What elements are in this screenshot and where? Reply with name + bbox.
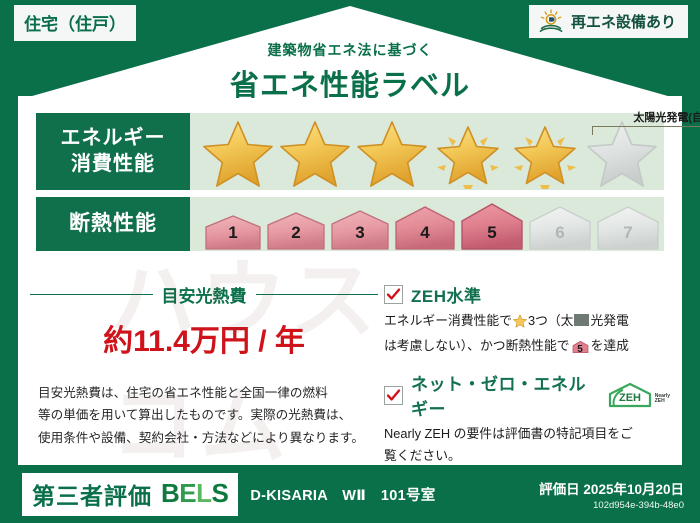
page-title: 省エネ性能ラベル bbox=[0, 62, 700, 104]
property-name: D-KISARIA WⅡ 101号室 bbox=[250, 484, 435, 505]
utility-cost-note-line3: 使用条件や設備、契約会社・方法などにより異なります。 bbox=[38, 427, 378, 449]
utility-cost-note: 目安光熱費は、住宅の省エネ性能と全国一律の燃料 等の単価を用いて算出したものです… bbox=[30, 382, 378, 449]
title-rule-left bbox=[30, 294, 153, 296]
utility-cost-title: 目安光熱費 bbox=[162, 282, 247, 307]
zeh-standard-body-part1: エネルギー消費性能で bbox=[384, 313, 512, 328]
zeh-standard-body-part5: を達成 bbox=[591, 338, 629, 353]
utility-cost-note-line1: 目安光熱費は、住宅の省エネ性能と全国一律の燃料 bbox=[38, 382, 378, 404]
renewable-energy-badge: 再エネ設備あり bbox=[529, 5, 688, 38]
bels-logo: BELS bbox=[161, 478, 228, 509]
net-zero-body-line2: 覧ください。 bbox=[384, 445, 670, 467]
footer: 第三者評価 BELS D-KISARIA WⅡ 101号室 評価日 2025年1… bbox=[0, 465, 700, 523]
zeh-standard-body-part3: 光発電 bbox=[590, 313, 628, 328]
header-subtitle: 建築物省エネ法に基づく bbox=[0, 40, 700, 60]
energy-label-root: ハウスコム 住宅（住戸） 再エネ設備あり 建築物省エネ法に基づく bbox=[0, 0, 700, 523]
net-zero-energy-item: ネット・ゼロ・エネルギー ZEH Nearly ZEH bbox=[384, 370, 670, 467]
net-zero-checkbox[interactable] bbox=[384, 386, 403, 405]
zeh-standard-body-part2: 3つ（太 bbox=[528, 313, 574, 328]
inline-house-level-number: 5 bbox=[572, 341, 589, 358]
rating-rows: エネルギー 消費性能 太陽光発電(自家消費)分 bbox=[36, 113, 664, 258]
house-level-scale: 1 2 3 bbox=[202, 197, 658, 251]
star-1-filled bbox=[200, 117, 277, 189]
category-chip: 住宅（住戸） bbox=[14, 5, 136, 41]
house-level-1: 1 bbox=[202, 197, 264, 251]
detail-columns: 目安光熱費 約11.4万円 / 年 目安光熱費は、住宅の省エネ性能と全国一律の燃… bbox=[30, 282, 670, 476]
star-5-filled-solar bbox=[507, 117, 584, 189]
solar-annotation-label: 太陽光発電(自家消費)分 bbox=[592, 109, 700, 125]
house-level-3: 3 bbox=[328, 197, 392, 251]
utility-cost-note-line2: 等の単価を用いて算出したものです。実際の光熱費は、 bbox=[38, 404, 378, 426]
title-rule-right bbox=[256, 294, 379, 296]
solar-sun-icon bbox=[538, 9, 564, 33]
star-2-filled bbox=[277, 117, 354, 189]
zeh-standard-checkbox[interactable] bbox=[384, 285, 403, 304]
zeh-house-logo-icon: ZEH bbox=[607, 382, 653, 408]
house-level-7: 7 bbox=[594, 197, 662, 251]
house-level-2: 2 bbox=[264, 197, 328, 251]
net-zero-body: Nearly ZEH の要件は評価書の特記項目をご 覧ください。 bbox=[384, 423, 670, 467]
zeh-standard-head: ZEH水準 bbox=[384, 282, 670, 307]
star-rating bbox=[200, 113, 660, 189]
zeh-standard-item: ZEH水準 エネルギー消費性能で3つ（太光発電 は考慮しない）、かつ断熱性能で5… bbox=[384, 282, 670, 361]
solar-annotation: 太陽光発電(自家消費)分 bbox=[592, 109, 700, 135]
utility-cost-column: 目安光熱費 約11.4万円 / 年 目安光熱費は、住宅の省エネ性能と全国一律の燃… bbox=[30, 282, 378, 476]
insulation-performance-row: 断熱性能 1 bbox=[36, 197, 664, 251]
zeh-standard-body: エネルギー消費性能で3つ（太光発電 は考慮しない）、かつ断熱性能で5を達成 bbox=[384, 310, 670, 361]
energy-performance-value: 太陽光発電(自家消費)分 bbox=[190, 113, 664, 190]
utility-cost-title-row: 目安光熱費 bbox=[30, 282, 378, 307]
third-party-label: 第三者評価 bbox=[32, 477, 152, 511]
solar-bracket bbox=[592, 126, 700, 135]
evaluation-id: 102d954e-394b-48e0 bbox=[539, 500, 684, 511]
star-4-filled-solar bbox=[430, 117, 507, 189]
house-level-5-achieved: 5 bbox=[458, 197, 526, 251]
redacted-character bbox=[574, 314, 589, 326]
zeh-logo-sub-line2: ZEH bbox=[655, 398, 665, 404]
svg-text:ZEH: ZEH bbox=[619, 392, 641, 404]
energy-caption-line1: エネルギー bbox=[61, 126, 166, 152]
energy-performance-row: エネルギー 消費性能 太陽光発電(自家消費)分 bbox=[36, 113, 664, 190]
utility-cost-value: 約11.4万円 / 年 bbox=[30, 316, 378, 360]
zeh-standard-title: ZEH水準 bbox=[411, 282, 482, 307]
renewable-badge-label: 再エネ設備あり bbox=[571, 11, 676, 32]
house-level-4: 4 bbox=[392, 197, 458, 251]
house-level-6: 6 bbox=[526, 197, 594, 251]
net-zero-head: ネット・ゼロ・エネルギー ZEH Nearly ZEH bbox=[384, 370, 670, 420]
net-zero-title: ネット・ゼロ・エネルギー bbox=[411, 370, 595, 420]
zeh-logo: ZEH Nearly ZEH bbox=[603, 382, 670, 408]
net-zero-body-line1: Nearly ZEH の要件は評価書の特記項目をご bbox=[384, 423, 670, 445]
zeh-logo-sub: Nearly ZEH bbox=[655, 394, 670, 405]
inline-house-level-icon: 5 bbox=[572, 339, 589, 361]
inline-star-icon bbox=[513, 316, 527, 331]
star-3-filled bbox=[353, 117, 430, 189]
page-title-block: 建築物省エネ法に基づく 省エネ性能ラベル bbox=[0, 40, 700, 104]
evaluation-date: 評価日 2025年10月20日 bbox=[539, 478, 684, 498]
footer-right: 評価日 2025年10月20日 102d954e-394b-48e0 bbox=[539, 478, 684, 511]
bels-chip: 第三者評価 BELS bbox=[22, 473, 238, 516]
insulation-caption: 断熱性能 bbox=[36, 197, 190, 251]
zeh-standard-body-part4: は考慮しない）、かつ断熱性能で bbox=[384, 338, 570, 353]
energy-performance-caption: エネルギー 消費性能 bbox=[36, 113, 190, 190]
zeh-column: ZEH水準 エネルギー消費性能で3つ（太光発電 は考慮しない）、かつ断熱性能で5… bbox=[378, 282, 670, 476]
insulation-value: 1 2 3 bbox=[190, 197, 664, 251]
energy-caption-line2: 消費性能 bbox=[71, 152, 155, 178]
